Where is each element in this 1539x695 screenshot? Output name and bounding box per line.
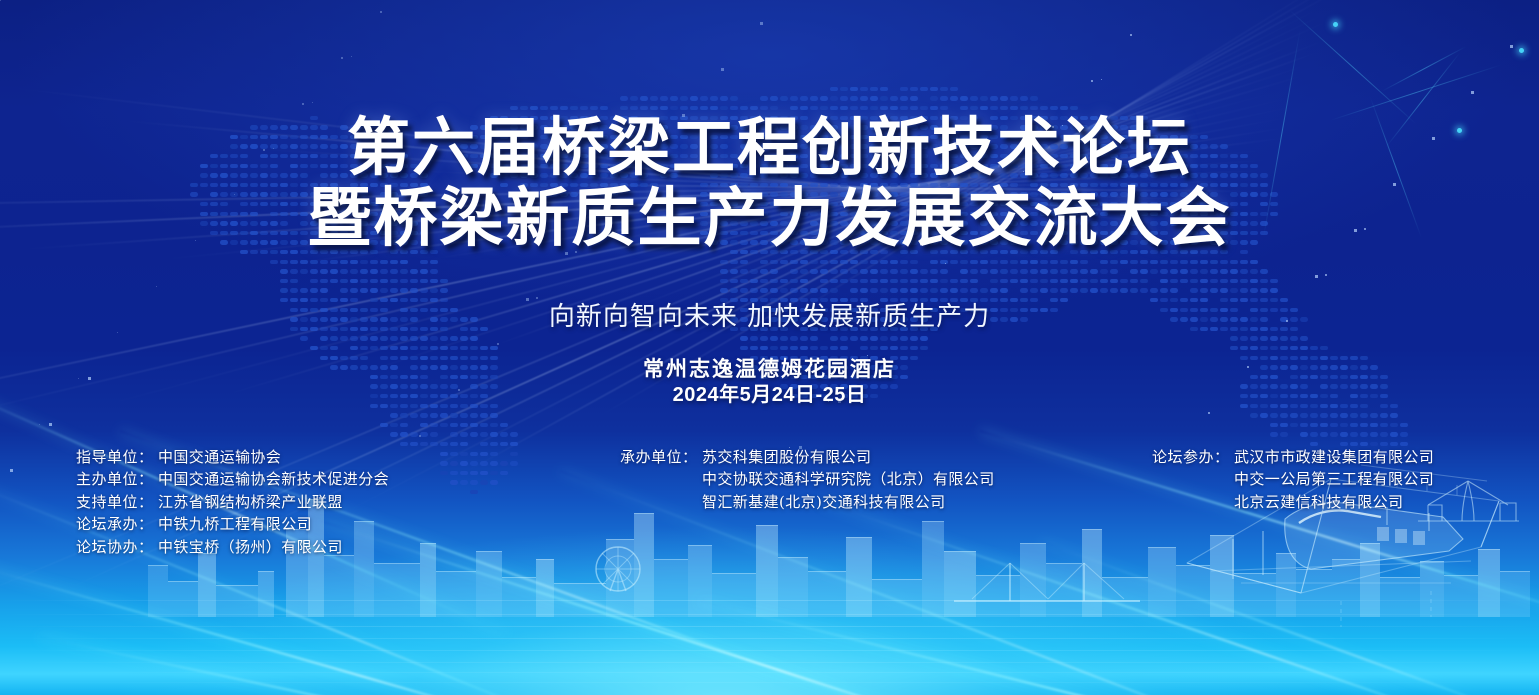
sponsor-row: 论坛协办： 中铁宝桥（扬州）有限公司 xyxy=(76,536,389,558)
sponsor-label: 论坛协办： xyxy=(76,536,158,558)
sponsor-label: 论坛参办： xyxy=(1152,446,1234,468)
sponsor-row: 论坛参办： 武汉市市政建设集团有限公司 xyxy=(1152,446,1434,468)
sponsor-value: 武汉市市政建设集团有限公司 xyxy=(1234,446,1434,468)
sponsor-row: 支持单位： 江苏省钢结构桥梁产业联盟 xyxy=(76,491,389,513)
sponsor-column-middle: 承办单位： 苏交科集团股份有限公司 中交协联交通科学研究院（北京）有限公司 智汇… xyxy=(620,446,995,513)
sponsor-label: 支持单位： xyxy=(76,491,158,513)
sponsor-row: 指导单位： 中国交通运输协会 xyxy=(76,446,389,468)
sponsor-value: 苏交科集团股份有限公司 xyxy=(702,446,871,468)
sponsor-value: 中交协联交通科学研究院（北京）有限公司 xyxy=(702,468,995,490)
sponsor-value: 中交一公局第三工程有限公司 xyxy=(1234,468,1434,490)
sponsor-value: 中铁九桥工程有限公司 xyxy=(158,513,312,535)
sponsor-row: 中交一公局第三工程有限公司 xyxy=(1152,468,1434,490)
sponsor-row: 中交协联交通科学研究院（北京）有限公司 xyxy=(620,468,995,490)
sponsor-value: 中国交通运输协会 xyxy=(158,446,281,468)
sponsor-label: 指导单位： xyxy=(76,446,158,468)
sponsor-row: 承办单位： 苏交科集团股份有限公司 xyxy=(620,446,995,468)
sponsor-column-left: 指导单位： 中国交通运输协会 主办单位： 中国交通运输协会新技术促进分会 支持单… xyxy=(76,446,389,558)
title-block: 第六届桥梁工程创新技术论坛 暨桥梁新质生产力发展交流大会 xyxy=(0,112,1539,254)
sponsor-column-right: 论坛参办： 武汉市市政建设集团有限公司 中交一公局第三工程有限公司 北京云建信科… xyxy=(1152,446,1434,513)
sponsor-row: 主办单位： 中国交通运输协会新技术促进分会 xyxy=(76,468,389,490)
sponsor-value: 中国交通运输协会新技术促进分会 xyxy=(158,468,389,490)
sponsor-row: 北京云建信科技有限公司 xyxy=(1152,491,1434,513)
sponsor-section: 指导单位： 中国交通运输协会 主办单位： 中国交通运输协会新技术促进分会 支持单… xyxy=(0,446,1539,566)
sponsor-row: 论坛承办： 中铁九桥工程有限公司 xyxy=(76,513,389,535)
conference-banner: 第六届桥梁工程创新技术论坛 暨桥梁新质生产力发展交流大会 向新向智向未来 加快发… xyxy=(0,0,1539,695)
sponsor-label: 论坛承办： xyxy=(76,513,158,535)
sponsor-value: 智汇新基建(北京)交通科技有限公司 xyxy=(702,491,946,513)
conference-date: 2024年5月24日-25日 xyxy=(0,378,1539,407)
main-title-line-1: 第六届桥梁工程创新技术论坛 xyxy=(0,112,1539,183)
main-title-line-2: 暨桥梁新质生产力发展交流大会 xyxy=(0,183,1539,255)
sponsor-label: 主办单位： xyxy=(76,468,158,490)
sponsor-row: 智汇新基建(北京)交通科技有限公司 xyxy=(620,491,995,513)
conference-slogan: 向新向智向未来 加快发展新质生产力 xyxy=(0,296,1539,333)
sponsor-value: 中铁宝桥（扬州）有限公司 xyxy=(158,536,343,558)
sponsor-value: 江苏省钢结构桥梁产业联盟 xyxy=(158,491,343,513)
sponsor-value: 北京云建信科技有限公司 xyxy=(1234,491,1403,513)
sponsor-label: 承办单位： xyxy=(620,446,702,468)
